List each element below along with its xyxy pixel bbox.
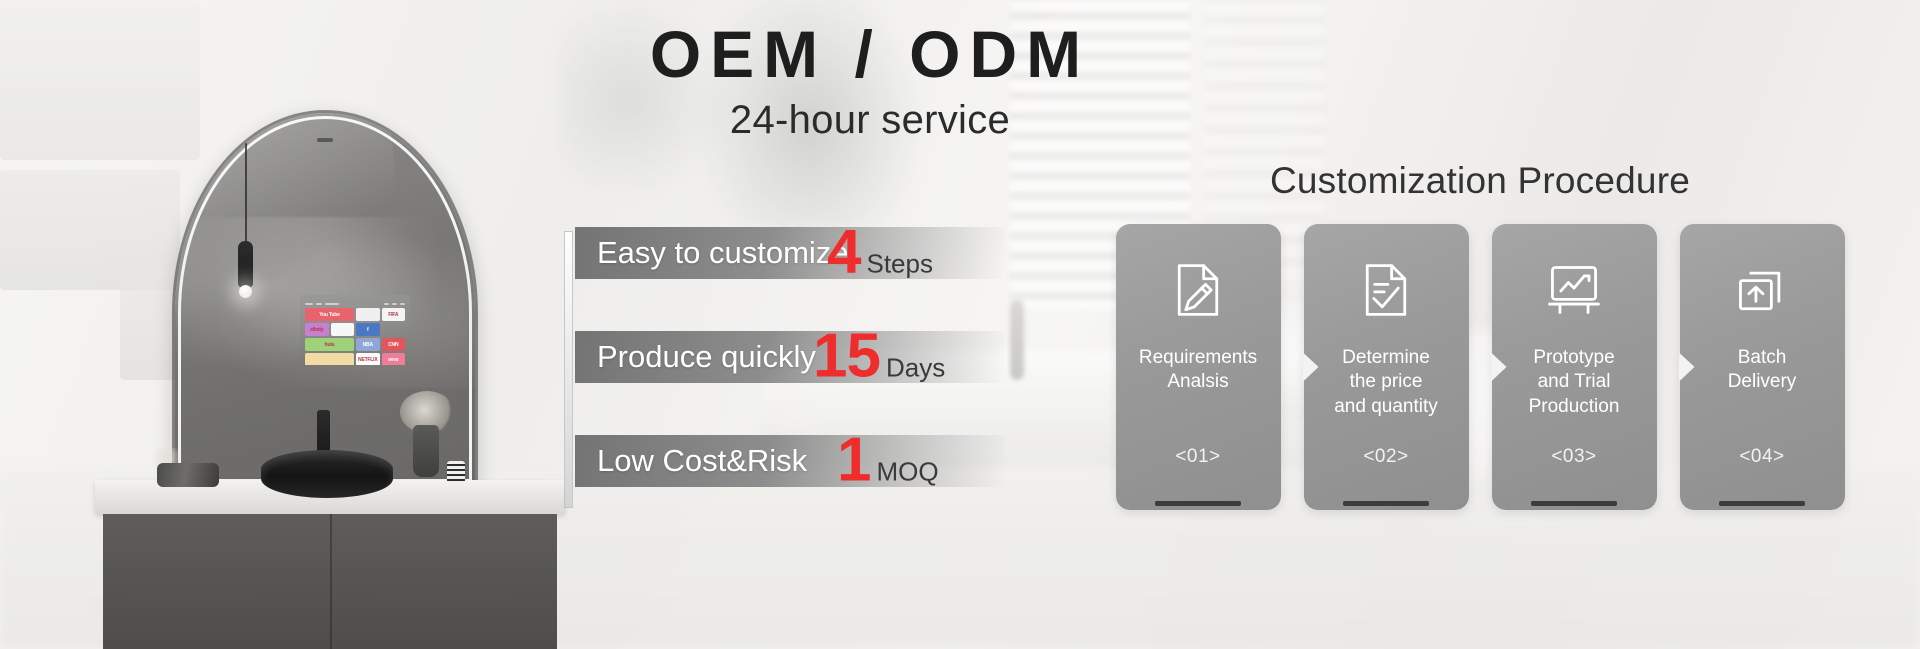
product-photo-smart-mirror: You TubeFIFAxfinityfhuluNBACNNNETFLIXvev… — [95, 95, 615, 649]
stat-figure: 4 Steps — [827, 227, 933, 280]
app-tile[interactable]: You Tube — [305, 308, 354, 321]
card-base-bar — [1719, 501, 1805, 506]
stat-label: Produce quickly — [597, 339, 816, 375]
headline-block: OEM / ODM 24-hour service — [560, 18, 1180, 143]
app-tile[interactable]: vevo — [382, 353, 406, 365]
app-tile[interactable]: xfinity — [305, 323, 329, 336]
card-base-bar — [1155, 501, 1241, 506]
upload-stack-icon — [1732, 260, 1792, 320]
procedure-card-list: Requirements Analsis <01> Determine the … — [1085, 224, 1875, 510]
oem-odm-promo-banner: You TubeFIFAxfinityfhuluNBACNNNETFLIXvev… — [0, 0, 1920, 649]
folded-towel — [157, 463, 219, 487]
screen-status-bar — [305, 303, 405, 305]
vertical-divider-rail — [565, 232, 572, 507]
stat-unit: MOQ — [876, 457, 938, 488]
card-base-bar — [1531, 501, 1617, 506]
pendant-lamp-cord — [245, 143, 247, 243]
procedure-card-step: <03> — [1492, 446, 1657, 468]
app-tile[interactable]: hulu — [305, 338, 354, 351]
stat-number: 4 — [827, 227, 860, 280]
customization-procedure-section: Customization Procedure Requirements Ana… — [1085, 160, 1875, 510]
app-tile[interactable]: NETFLIX — [356, 353, 380, 365]
stat-row: Produce quickly 15 Days — [575, 331, 1005, 383]
stat-unit: Steps — [866, 249, 933, 280]
app-tile[interactable]: CNN — [382, 338, 406, 351]
pendant-lamp-body — [238, 241, 253, 287]
document-pencil-icon — [1168, 260, 1228, 320]
procedure-card-title: Requirements Analsis — [1131, 346, 1265, 395]
procedure-card-04[interactable]: Batch Delivery <04> — [1680, 224, 1845, 510]
app-tile[interactable]: NBA — [356, 338, 380, 351]
stat-figure: 15 Days — [813, 331, 945, 384]
app-tile[interactable] — [356, 308, 380, 321]
presentation-chart-icon — [1544, 260, 1604, 320]
app-tile[interactable]: f — [356, 323, 380, 336]
stat-unit: Days — [886, 353, 945, 384]
app-tile[interactable] — [331, 323, 355, 336]
procedure-card-step: <04> — [1680, 446, 1845, 468]
vanity-cabinet — [103, 514, 557, 649]
stat-row: Low Cost&Risk 1 MOQ — [575, 435, 1005, 487]
stat-number: 15 — [813, 331, 880, 384]
procedure-card-02[interactable]: Determine the price and quantity <02> — [1304, 224, 1469, 510]
card-base-bar — [1343, 501, 1429, 506]
stat-figure: 1 MOQ — [837, 435, 939, 488]
procedure-card-01[interactable]: Requirements Analsis <01> — [1116, 224, 1281, 510]
procedure-card-step: <02> — [1304, 446, 1469, 468]
app-tile[interactable]: FIFA — [382, 308, 406, 321]
vessel-sink — [261, 450, 393, 498]
page-subtitle: 24-hour service — [560, 98, 1180, 143]
app-tile[interactable] — [305, 353, 354, 365]
app-tile-grid[interactable]: You TubeFIFAxfinityfhuluNBACNNNETFLIXvev… — [305, 308, 405, 365]
mirror-sensor-icon — [317, 138, 333, 142]
document-check-icon — [1356, 260, 1416, 320]
procedure-card-title: Prototype and Trial Production — [1521, 346, 1628, 419]
procedure-card-03[interactable]: Prototype and Trial Production <03> — [1492, 224, 1657, 510]
procedure-card-step: <01> — [1116, 446, 1281, 468]
decorative-jar — [447, 461, 465, 483]
background-faucet — [1010, 300, 1024, 380]
procedure-card-title: Batch Delivery — [1720, 346, 1805, 395]
stat-label: Low Cost&Risk — [597, 443, 807, 479]
stat-row: Easy to customize 4 Steps — [575, 227, 1005, 279]
decorative-vase — [413, 425, 439, 477]
stat-number: 1 — [837, 435, 870, 488]
mirror-touch-screen[interactable]: You TubeFIFAxfinityfhuluNBACNNNETFLIXvev… — [300, 295, 410, 365]
stats-list: Easy to customize 4 Steps Produce quickl… — [575, 227, 1005, 487]
procedure-card-title: Determine the price and quantity — [1326, 346, 1446, 419]
page-title: OEM / ODM — [560, 18, 1180, 92]
stat-label: Easy to customize — [597, 235, 849, 271]
procedure-heading: Customization Procedure — [1085, 160, 1875, 202]
pendant-lamp-bulb — [239, 285, 252, 298]
